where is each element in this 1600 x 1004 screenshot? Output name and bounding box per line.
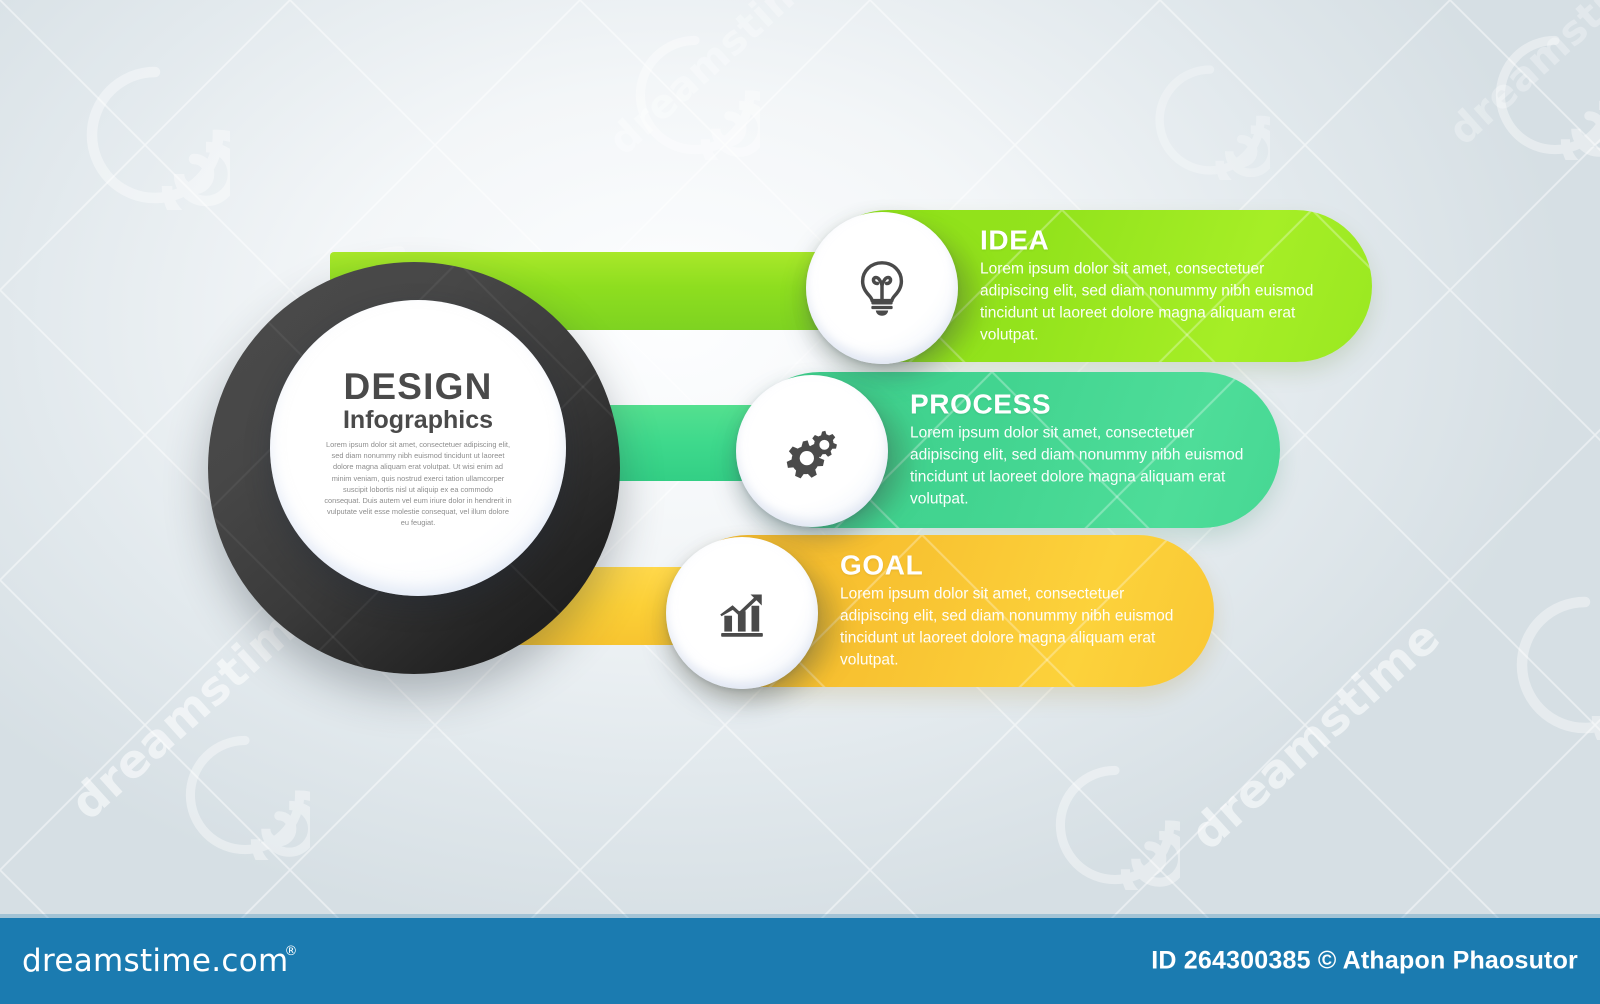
page-title: DESIGN	[343, 368, 492, 405]
step-content-goal: GOAL Lorem ipsum dolor sit amet, consect…	[840, 550, 1186, 671]
step-icon-circle-process[interactable]	[736, 375, 888, 527]
step-icon-circle-goal[interactable]	[666, 537, 818, 689]
image-credit: ID 264300385 © Athapon Phaosutor	[1151, 947, 1578, 976]
step-description-goal: Lorem ipsum dolor sit amet, consectetuer…	[840, 584, 1186, 672]
step-icon-circle-idea[interactable]	[806, 212, 958, 364]
step-description-process: Lorem ipsum dolor sit amet, consectetuer…	[910, 423, 1252, 511]
step-title-idea: IDEA	[980, 225, 1344, 254]
gears-icon	[782, 421, 842, 481]
infographic-canvas: dreamstime dreamstime dreamstime dreamst…	[0, 0, 1600, 1004]
center-inner-circle[interactable]: DESIGN Infographics Lorem ipsum dolor si…	[270, 300, 566, 596]
lightbulb-icon	[851, 257, 913, 319]
registered-icon: ®	[284, 944, 297, 959]
step-title-process: PROCESS	[910, 389, 1252, 418]
dreamstime-logo-text: dreamstime.com	[22, 943, 288, 979]
step-content-idea: IDEA Lorem ipsum dolor sit amet, consect…	[980, 225, 1344, 346]
step-title-goal: GOAL	[840, 550, 1186, 579]
page-subtitle: Infographics	[343, 407, 493, 433]
watermark-footer: dreamstime.com® ID 264300385 © Athapon P…	[0, 918, 1600, 1004]
growth-chart-icon	[713, 584, 771, 642]
dreamstime-logo[interactable]: dreamstime.com®	[22, 943, 298, 979]
center-description: Lorem ipsum dolor sit amet, consectetuer…	[324, 439, 512, 528]
step-description-idea: Lorem ipsum dolor sit amet, consectetuer…	[980, 259, 1332, 347]
step-content-process: PROCESS Lorem ipsum dolor sit amet, cons…	[910, 389, 1252, 510]
